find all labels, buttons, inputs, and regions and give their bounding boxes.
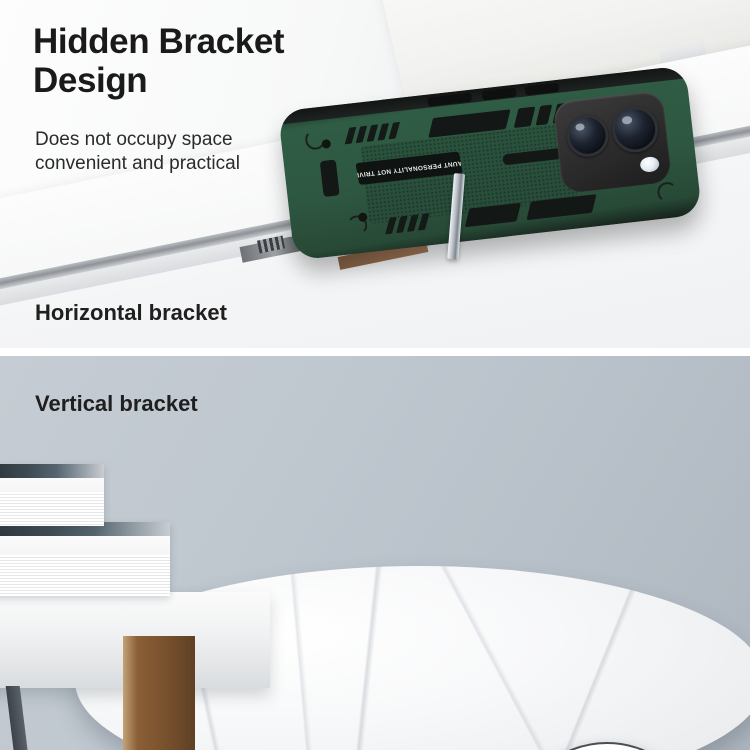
book-lower-pages (0, 555, 170, 596)
subtitle: Does not occupy space convenient and pra… (35, 128, 335, 176)
subtitle-line-2: convenient and practical (35, 152, 335, 176)
vent-slashes-top-left (345, 122, 400, 144)
subtitle-line-1: Does not occupy space (35, 128, 335, 152)
corner-arc-bottom-right (656, 181, 678, 203)
product-feature-image: FLAUNT PERSONALITY NOT TRIVIAL Hidden Br… (0, 0, 750, 750)
caption-vertical-bracket: Vertical bracket (35, 391, 198, 417)
bottom-panel: Vertical bracket (0, 356, 750, 750)
book-upper-cover (0, 464, 104, 478)
caption-horizontal-bracket: Horizontal bracket (35, 300, 227, 326)
book-lower (0, 522, 170, 596)
camera-module (553, 90, 673, 194)
camera-lens-1 (564, 113, 610, 159)
table-leg-front-wood (123, 636, 195, 750)
book-upper-pages (0, 492, 104, 526)
side-desk-leg (6, 686, 29, 750)
vent-bar-top-right-2 (536, 105, 553, 126)
book-upper (0, 464, 104, 526)
panel-divider (0, 348, 750, 356)
top-panel: FLAUNT PERSONALITY NOT TRIVIAL Hidden Br… (0, 0, 750, 348)
camera-flash (639, 156, 660, 173)
vent-bar-top-right-1 (514, 107, 536, 129)
camera-lens-2 (610, 104, 661, 155)
page-title: Hidden Bracket Design (33, 22, 363, 100)
